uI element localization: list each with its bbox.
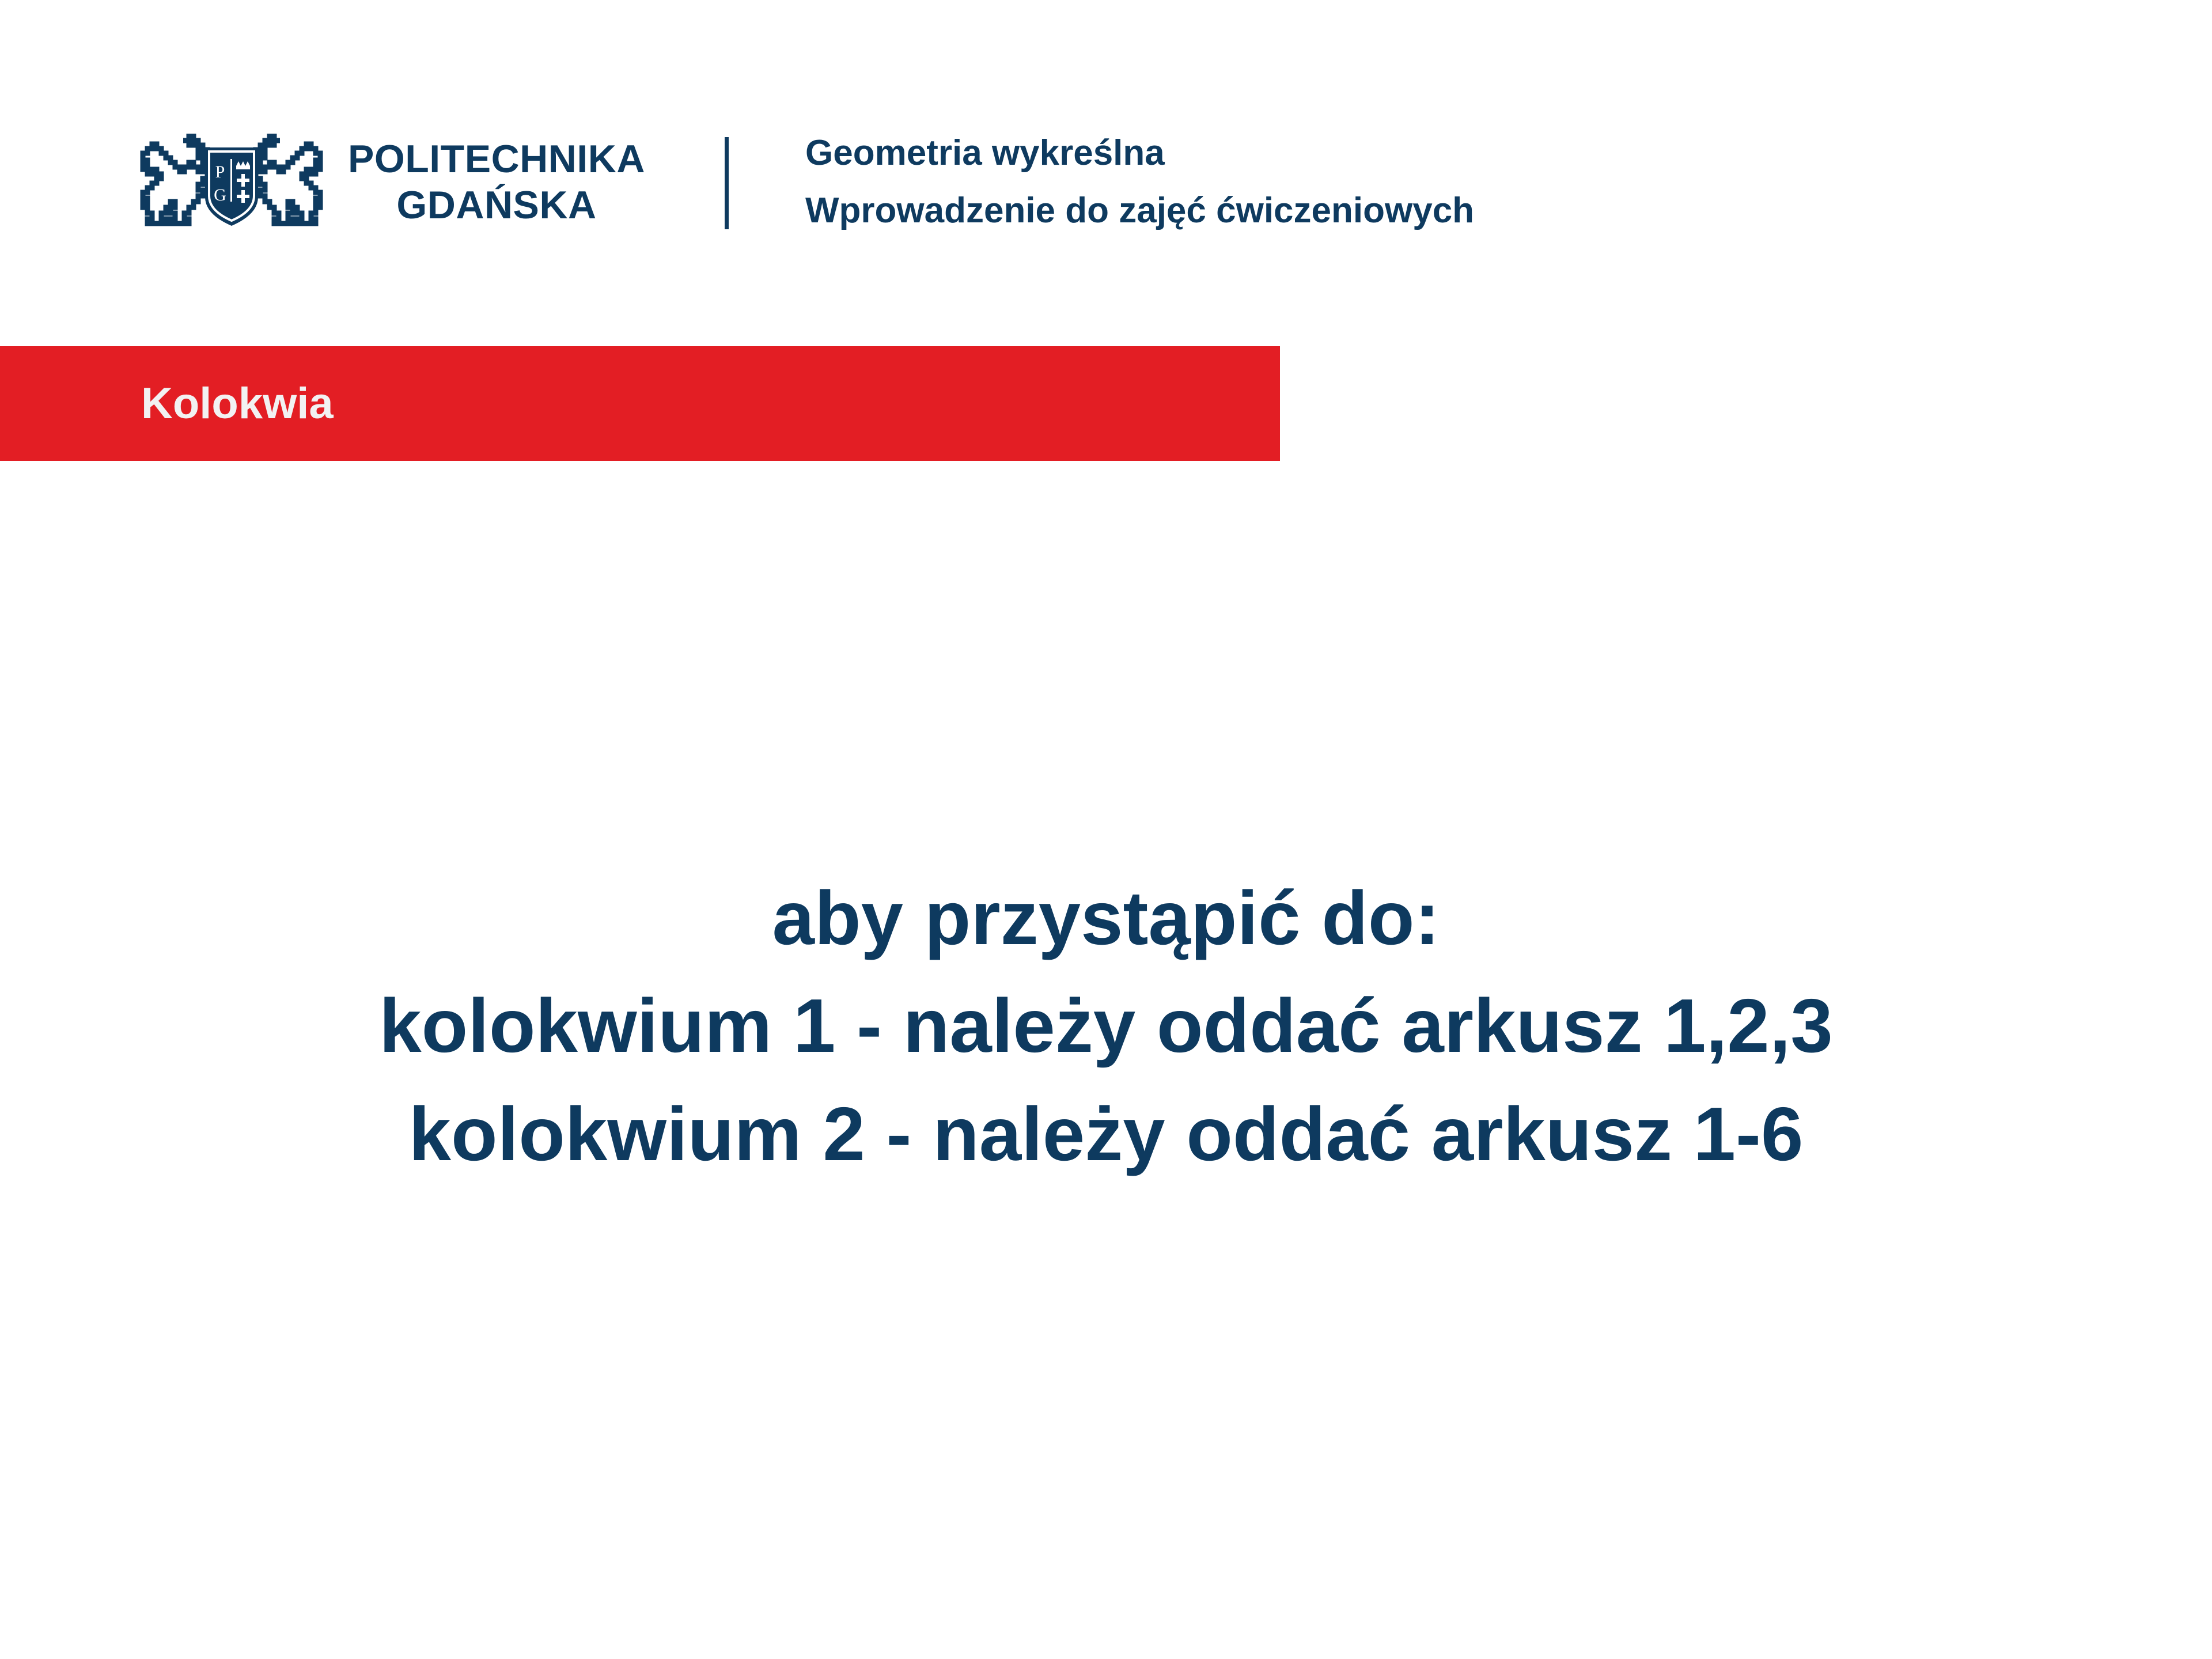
body-line-3: kolokwium 2 - należy oddać arkusz 1-6 xyxy=(0,1080,2212,1188)
course-title: Geometria wykreślna xyxy=(805,135,1474,171)
slide-header: P G POLITECHNIKA GDAŃSKA Geometria wykre… xyxy=(0,0,2212,346)
university-wordmark: POLITECHNIKA GDAŃSKA xyxy=(348,139,645,225)
section-banner: Kolokwia xyxy=(0,346,1280,461)
university-brand: P G POLITECHNIKA GDAŃSKA xyxy=(134,134,645,230)
course-info: Geometria wykreślna Wprowadzenie do zaję… xyxy=(805,134,1474,230)
course-subtitle: Wprowadzenie do zajęć ćwiczeniowych xyxy=(805,193,1474,229)
svg-text:P: P xyxy=(215,162,225,181)
body-line-1: aby przystąpić do: xyxy=(0,864,2212,972)
pg-crest-icon: P G xyxy=(134,134,329,230)
vertical-divider xyxy=(725,137,729,229)
svg-text:G: G xyxy=(214,185,226,204)
university-name-line2: GDAŃSKA xyxy=(348,185,645,225)
university-name-line1: POLITECHNIKA xyxy=(348,139,645,179)
body-line-2: kolokwium 1 - należy oddać arkusz 1,2,3 xyxy=(0,972,2212,1080)
slide-body: aby przystąpić do: kolokwium 1 - należy … xyxy=(0,864,2212,1188)
section-title: Kolokwia xyxy=(141,382,334,426)
